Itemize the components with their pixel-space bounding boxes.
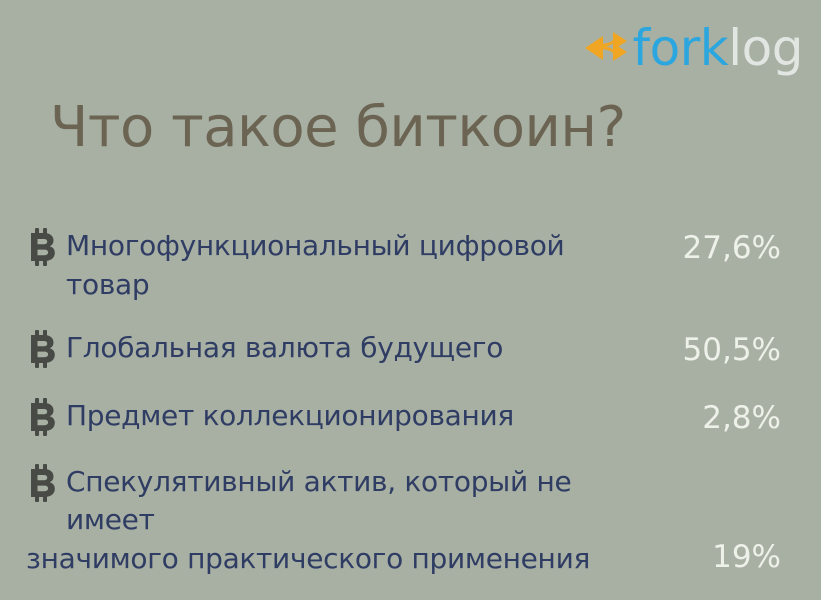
logo-word-fork: fork xyxy=(633,23,729,73)
poll-results-list: Многофункциональный цифровой товар 27,6%… xyxy=(26,226,781,579)
list-item-percent: 19% xyxy=(641,535,781,579)
list-item-percent: 2,8% xyxy=(641,396,781,440)
page-title: Что такое биткоин? xyxy=(50,96,626,160)
bitcoin-icon xyxy=(26,464,58,502)
list-item-percent: 27,6% xyxy=(641,226,781,270)
list-item-label: Спекулятивный актив, который не имеет xyxy=(66,465,571,537)
list-item-percent: 50,5% xyxy=(641,328,781,372)
list-item-label: Многофункциональный цифровой товар xyxy=(66,226,641,304)
logo-word-log: log xyxy=(728,23,803,73)
fork-arrow-icon xyxy=(583,26,629,70)
bitcoin-icon xyxy=(26,398,58,436)
bitcoin-icon xyxy=(26,228,58,266)
list-item-label-line2: значимого практического применения xyxy=(26,540,641,579)
list-item: Предмет коллекционирования 2,8% xyxy=(26,396,781,440)
bitcoin-icon xyxy=(26,330,58,368)
list-item: Глобальная валюта будущего 50,5% xyxy=(26,328,781,372)
list-item-label: Глобальная валюта будущего xyxy=(66,328,641,368)
list-item-label-wrap: Спекулятивный актив, который не имеетзна… xyxy=(66,462,641,579)
list-item: Спекулятивный актив, который не имеетзна… xyxy=(26,462,781,579)
infographic-poster: forklog Что такое биткоин? Многофункцион… xyxy=(0,0,821,600)
forklog-logo[interactable]: forklog xyxy=(583,18,803,78)
list-item: Многофункциональный цифровой товар 27,6% xyxy=(26,226,781,304)
list-item-label: Предмет коллекционирования xyxy=(66,396,641,436)
